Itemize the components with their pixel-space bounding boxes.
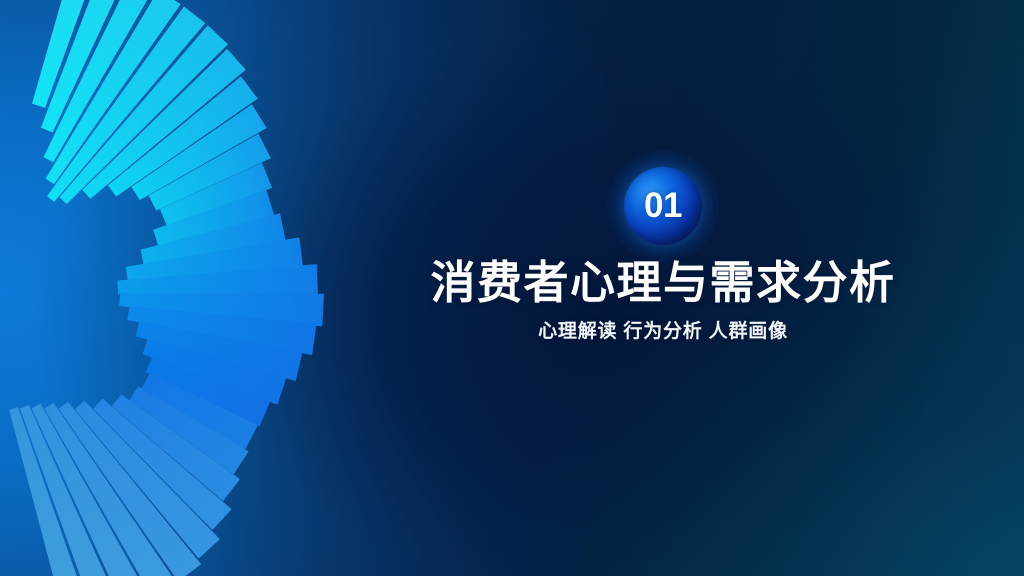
slide-title: 消费者心理与需求分析 <box>413 258 913 308</box>
slide-subtitle: 心理解读 行为分析 人群画像 <box>413 321 913 344</box>
section-number-badge: 01 <box>624 167 702 245</box>
section-number-text: 01 <box>644 188 682 224</box>
badge-circle: 01 <box>624 167 702 245</box>
slide-canvas: 01 消费者心理与需求分析 心理解读 行为分析 人群画像 <box>0 0 1024 576</box>
title-block: 消费者心理与需求分析 心理解读 行为分析 人群画像 <box>413 258 913 344</box>
